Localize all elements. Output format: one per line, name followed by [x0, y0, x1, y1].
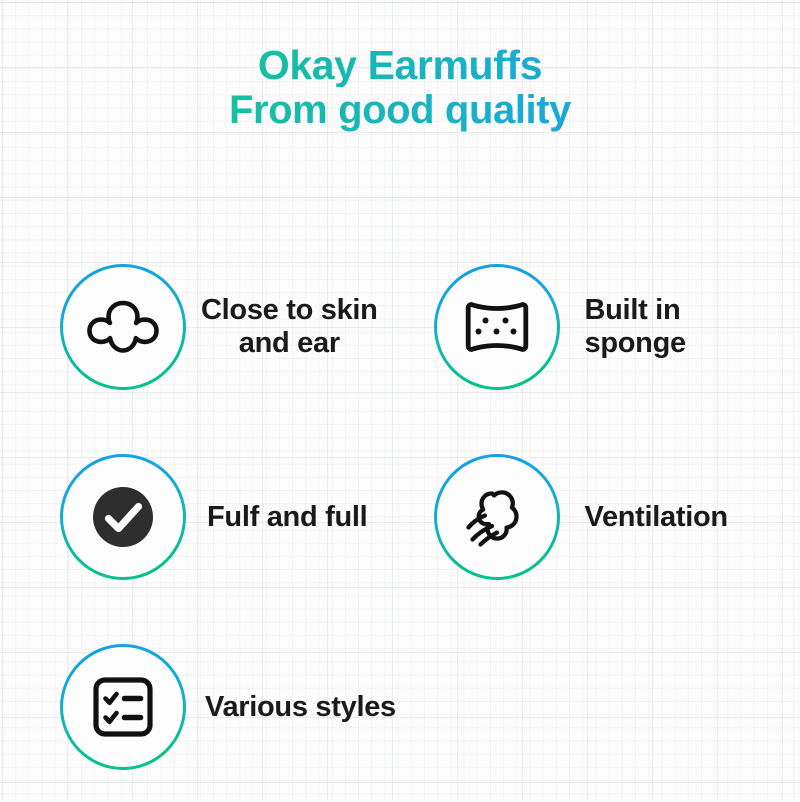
- feature-label-line-2: and ear: [239, 327, 340, 359]
- feature-label: Various styles: [205, 691, 396, 724]
- sponge-icon: [460, 298, 534, 356]
- check-circle-icon: [87, 481, 159, 553]
- feature-label-line-1: Close to skin: [201, 294, 378, 326]
- feature-item-close-to-skin: Close to skin and ear: [63, 232, 427, 422]
- feature-badge: [437, 457, 557, 577]
- feature-label: Fulf and full: [207, 501, 367, 534]
- feature-badge: [63, 267, 183, 387]
- feature-item-built-in-sponge: Built in sponge: [437, 232, 800, 422]
- feature-item-fulf-and-full: Fulf and full: [63, 422, 427, 612]
- cloud-icon: [86, 296, 160, 358]
- feature-label-line-1: Fulf and full: [207, 501, 367, 533]
- feature-badge: [63, 647, 183, 767]
- feature-badge: [63, 457, 183, 577]
- wind-cloud-icon: [460, 483, 534, 551]
- feature-row: Various styles: [0, 612, 800, 802]
- headline-line-2: From good quality: [0, 89, 800, 131]
- feature-item-various-styles: Various styles: [63, 612, 451, 802]
- checklist-icon: [90, 674, 156, 740]
- feature-row: Fulf and full Ventilation: [0, 422, 800, 612]
- feature-label-line-2: sponge: [585, 327, 686, 359]
- feature-list: Close to skin and ear: [0, 232, 800, 802]
- feature-label: Close to skin and ear: [201, 294, 378, 360]
- page-title: Okay Earmuffs From good quality: [0, 44, 800, 132]
- feature-badge: [437, 267, 557, 387]
- feature-row: Close to skin and ear: [0, 232, 800, 422]
- feature-label: Ventilation: [585, 501, 728, 534]
- headline-line-1: Okay Earmuffs: [0, 44, 800, 87]
- feature-label-line-1: Various styles: [205, 691, 396, 723]
- feature-label-line-1: Ventilation: [585, 501, 728, 533]
- product-feature-banner: Okay Earmuffs From good quality Close to…: [0, 0, 800, 800]
- feature-label: Built in sponge: [585, 294, 686, 360]
- feature-item-ventilation: Ventilation: [437, 422, 800, 612]
- feature-label-line-1: Built in: [585, 294, 681, 326]
